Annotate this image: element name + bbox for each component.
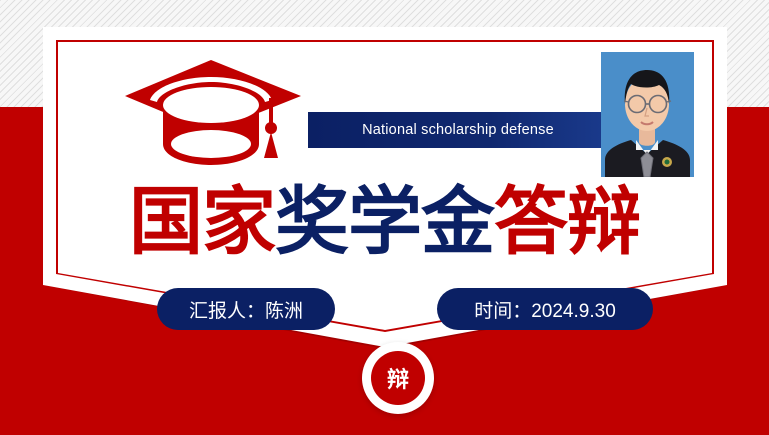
- english-subtitle-text: National scholarship defense: [362, 122, 554, 138]
- english-subtitle-banner: National scholarship defense: [308, 112, 608, 148]
- presenter-pill[interactable]: 汇报人：陈洲: [157, 288, 335, 330]
- page-title: 国家奖学金答辩: [0, 176, 769, 268]
- graduation-cap-icon: [123, 58, 303, 178]
- title-part-3: 答辩: [494, 179, 640, 265]
- date-label: 时间：2024.9.30: [474, 296, 616, 323]
- presentation-slide: National scholarship defense: [0, 0, 769, 435]
- presenter-label: 汇报人：陈洲: [189, 296, 303, 323]
- portrait-photo: [601, 52, 694, 177]
- badge-label: 辩: [387, 362, 409, 394]
- title-part-2: 奖学金: [275, 179, 494, 265]
- defense-badge: 辩: [371, 351, 425, 405]
- date-pill[interactable]: 时间：2024.9.30: [437, 288, 653, 330]
- title-part-1: 国家: [129, 179, 275, 265]
